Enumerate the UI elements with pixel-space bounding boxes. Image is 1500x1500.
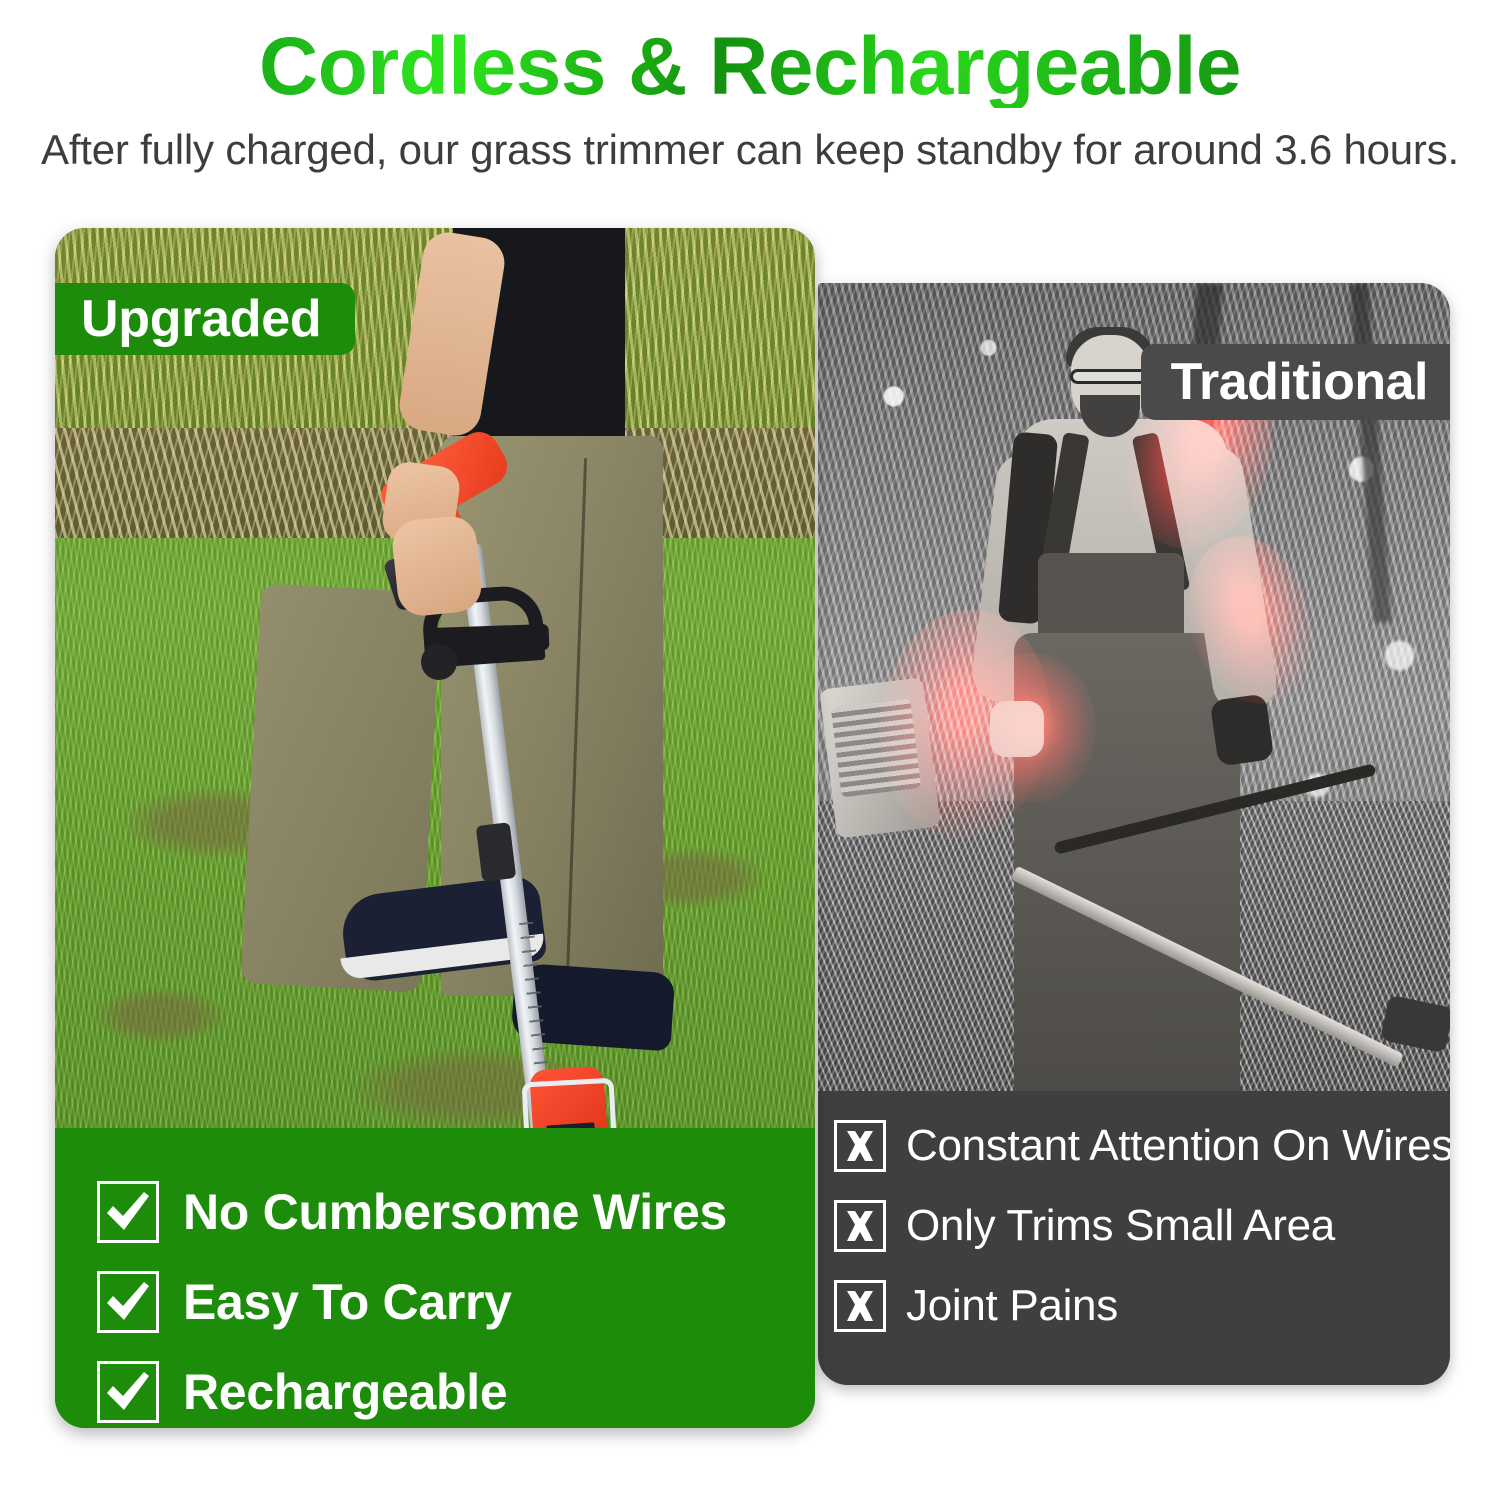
check-icon: [97, 1271, 159, 1333]
pros-list: No Cumbersome Wires Easy To Carry Rechar…: [55, 1128, 815, 1428]
list-item-label: Constant Attention On Wires: [906, 1121, 1450, 1171]
check-icon: [97, 1181, 159, 1243]
shaft-collar: [476, 822, 517, 882]
worker-glove: [1210, 693, 1275, 766]
upgraded-photo: [55, 228, 815, 1130]
list-item-label: No Cumbersome Wires: [183, 1183, 727, 1241]
upgraded-badge: Upgraded: [55, 283, 355, 355]
worker-pants: [1014, 633, 1240, 1093]
cons-list: Constant Attention On Wires Only Trims S…: [818, 1091, 1450, 1385]
list-item-label: Joint Pains: [906, 1281, 1118, 1331]
traditional-card: Traditional Constant Attention On Wires …: [818, 283, 1450, 1385]
upgraded-card: Upgraded No Cumbersome Wires Easy To Car…: [55, 228, 815, 1428]
brushcutter-head: [1380, 995, 1450, 1054]
list-item-label: Rechargeable: [183, 1363, 507, 1421]
traditional-badge: Traditional: [1141, 344, 1450, 420]
x-icon: [834, 1280, 886, 1332]
list-item-label: Easy To Carry: [183, 1273, 512, 1331]
list-item: Constant Attention On Wires: [834, 1109, 1450, 1183]
engine-fins: [831, 698, 921, 797]
list-item: No Cumbersome Wires: [97, 1176, 815, 1248]
x-icon: [834, 1200, 886, 1252]
worker-left-hand: [990, 701, 1044, 757]
trimmer-bail-wire: [522, 1078, 621, 1130]
header: Cordless & Rechargeable After fully char…: [0, 0, 1500, 210]
page-subtitle: After fully charged, our grass trimmer c…: [0, 126, 1500, 174]
user-figure: [55, 228, 815, 1130]
check-icon: [97, 1361, 159, 1423]
adjust-knob-icon: [421, 644, 457, 680]
list-item-label: Only Trims Small Area: [906, 1201, 1335, 1251]
safety-glasses-icon: [1070, 369, 1150, 384]
user-lower-hand: [390, 514, 484, 618]
list-item: Only Trims Small Area: [834, 1189, 1450, 1263]
list-item: Joint Pains: [834, 1269, 1450, 1343]
list-item: Rechargeable: [97, 1356, 815, 1428]
x-icon: [834, 1120, 886, 1172]
page-title: Cordless & Rechargeable: [0, 26, 1500, 108]
list-item: Easy To Carry: [97, 1266, 815, 1338]
